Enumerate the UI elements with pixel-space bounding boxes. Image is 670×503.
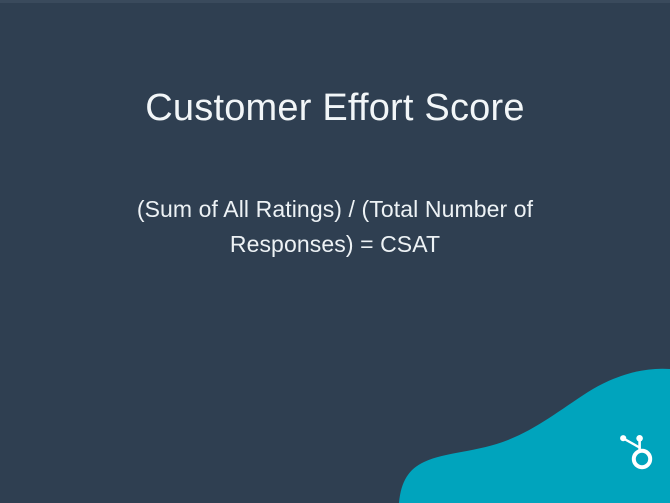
formula-text: (Sum of All Ratings) / (Total Number of … xyxy=(105,192,565,262)
page-title: Customer Effort Score xyxy=(0,86,670,131)
presentation-slide: Customer Effort Score (Sum of All Rating… xyxy=(0,0,670,503)
hubspot-sprocket-logo xyxy=(619,434,655,472)
slide-content: Customer Effort Score (Sum of All Rating… xyxy=(0,0,670,503)
